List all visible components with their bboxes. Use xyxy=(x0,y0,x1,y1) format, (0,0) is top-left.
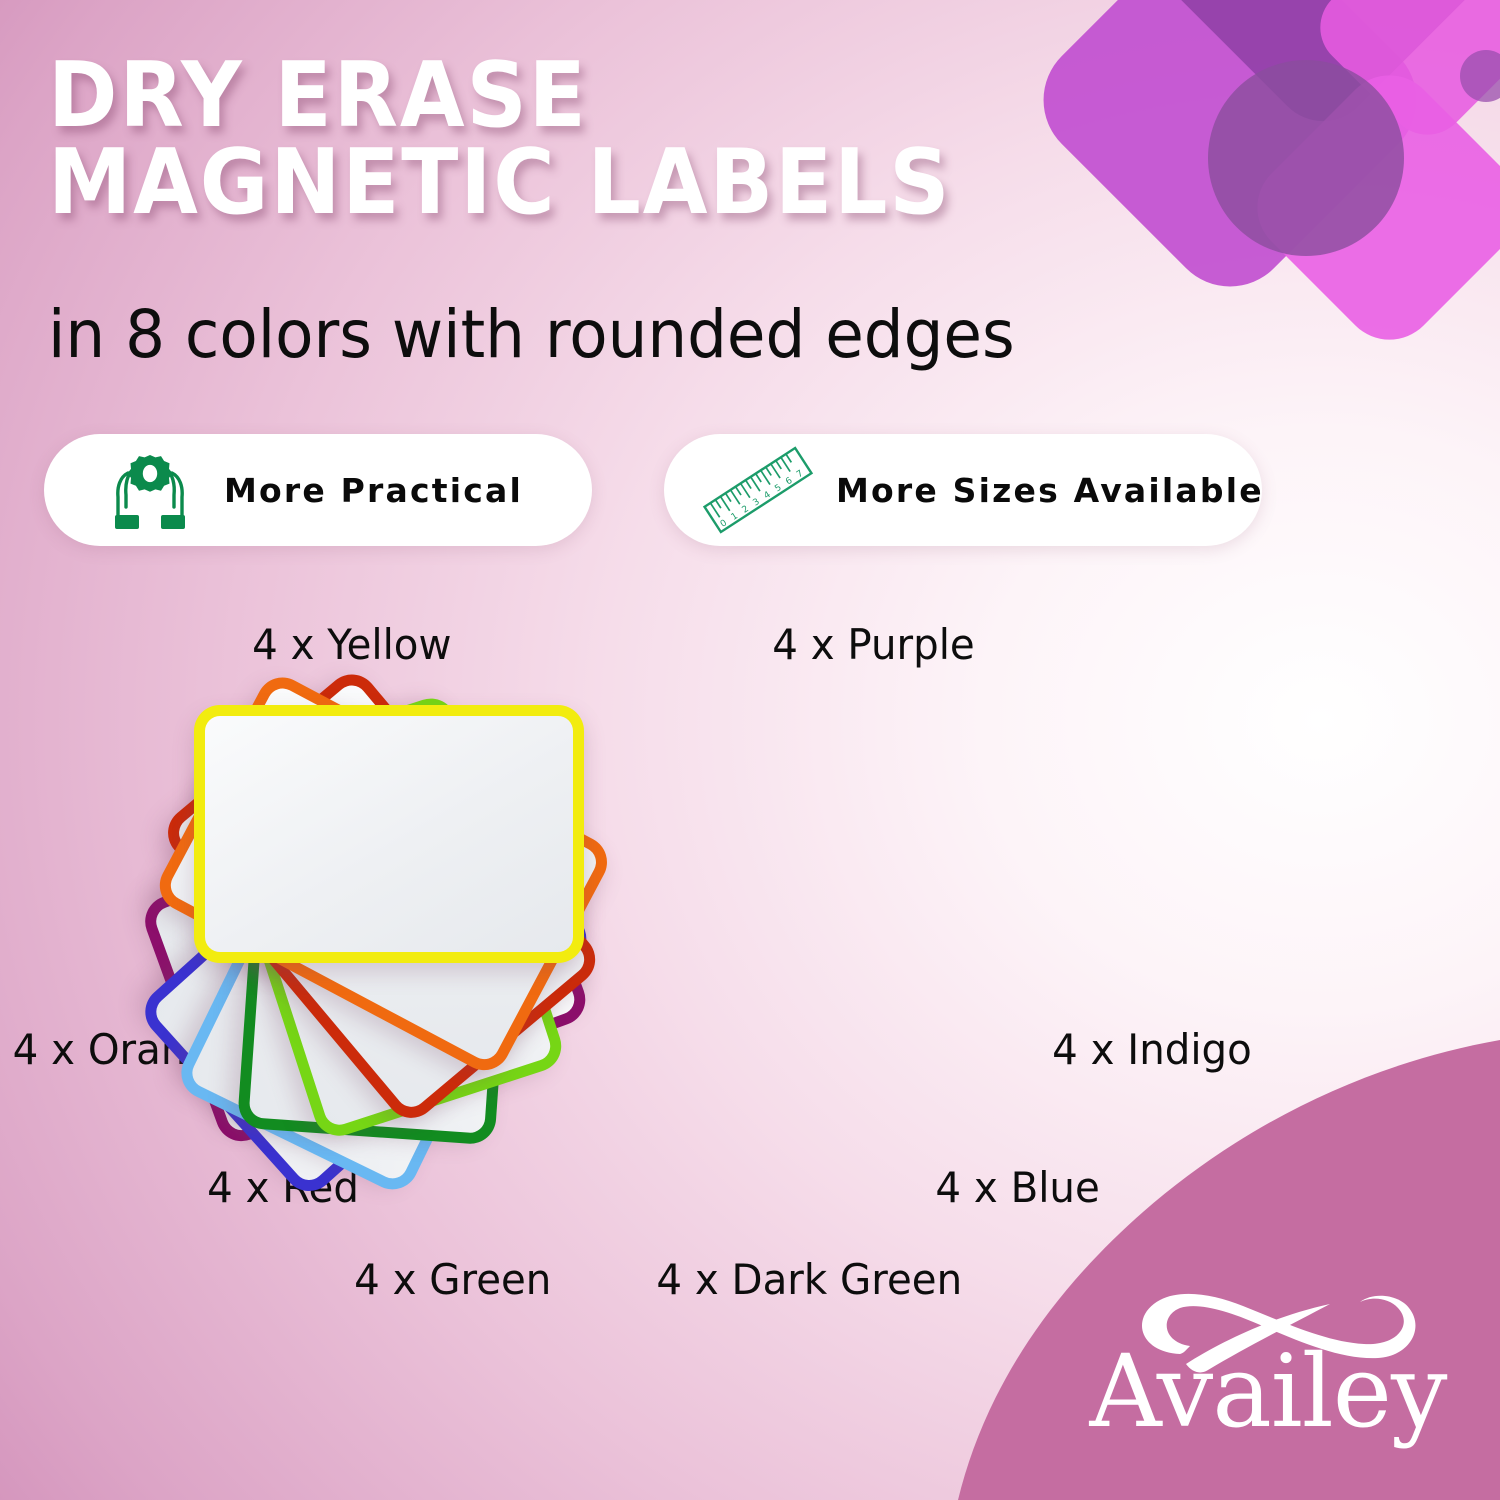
circle-large xyxy=(1208,60,1404,256)
board-fan xyxy=(0,640,1500,1280)
board-yellow xyxy=(0,640,1500,1280)
square-large-light xyxy=(1018,0,1442,312)
ruler-icon: 01234567 xyxy=(698,447,818,533)
square-mid-dark xyxy=(1146,0,1500,142)
decorative-shape-cluster xyxy=(1020,0,1500,430)
square-bottom-pink xyxy=(1237,55,1500,359)
square-small-bright xyxy=(1304,0,1500,151)
badge-more-practical: More Practical xyxy=(44,434,592,546)
logo-wordmark: Availey xyxy=(1068,1342,1468,1442)
page-subtitle: in 8 colors with rounded edges xyxy=(48,296,1015,373)
badge-more-sizes: 01234567 More Sizes Available xyxy=(664,434,1262,546)
dry-erase-board-yellow xyxy=(194,705,584,963)
badge-label-practical: More Practical xyxy=(224,471,523,510)
hands-holding-gear-icon xyxy=(100,447,200,533)
circle-small xyxy=(1460,50,1500,102)
badge-label-sizes: More Sizes Available xyxy=(836,471,1264,510)
product-infographic: DRY ERASE MAGNETIC LABELS in 8 colors wi… xyxy=(0,0,1500,1500)
brand-logo: Availey xyxy=(1068,1286,1468,1476)
page-title: DRY ERASE MAGNETIC LABELS xyxy=(48,52,1034,227)
title-line-2: MAGNETIC LABELS xyxy=(48,139,1034,226)
